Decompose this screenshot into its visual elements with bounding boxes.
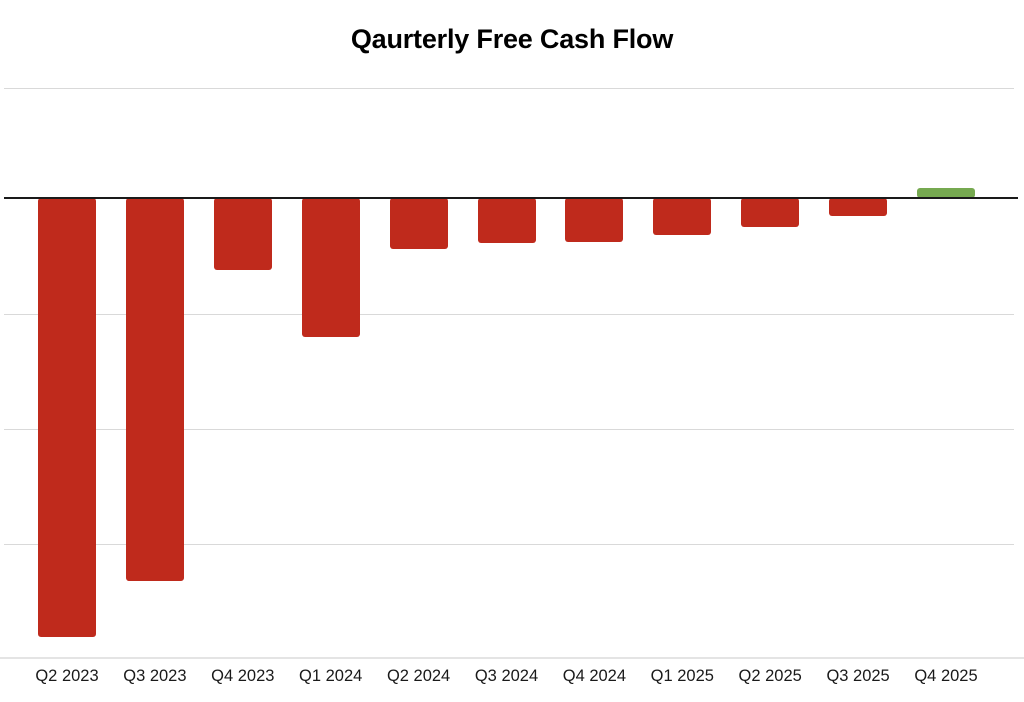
bar-q4-2024[interactable]	[565, 198, 623, 242]
plot-area	[0, 0, 1024, 658]
bar-q4-2023[interactable]	[214, 198, 272, 270]
bar-q1-2024[interactable]	[302, 198, 360, 337]
zero-baseline	[4, 197, 1018, 199]
chart-container: Qaurterly Free Cash Flow Q2 2023Q3 2023Q…	[0, 0, 1024, 702]
bar-q1-2025[interactable]	[653, 198, 711, 235]
bar-q3-2025[interactable]	[829, 198, 887, 216]
bars-layer	[0, 0, 1024, 658]
bar-q3-2023[interactable]	[126, 198, 184, 581]
x-axis-label-row: Q2 2023Q3 2023Q4 2023Q1 2024Q2 2024Q3 20…	[0, 665, 1024, 695]
bar-q2-2023[interactable]	[38, 198, 96, 637]
x-tick-label-q4-2025: Q4 2025	[886, 665, 1006, 687]
bar-q2-2025[interactable]	[741, 198, 799, 227]
bar-q2-2024[interactable]	[390, 198, 448, 249]
bar-q3-2024[interactable]	[478, 198, 536, 243]
